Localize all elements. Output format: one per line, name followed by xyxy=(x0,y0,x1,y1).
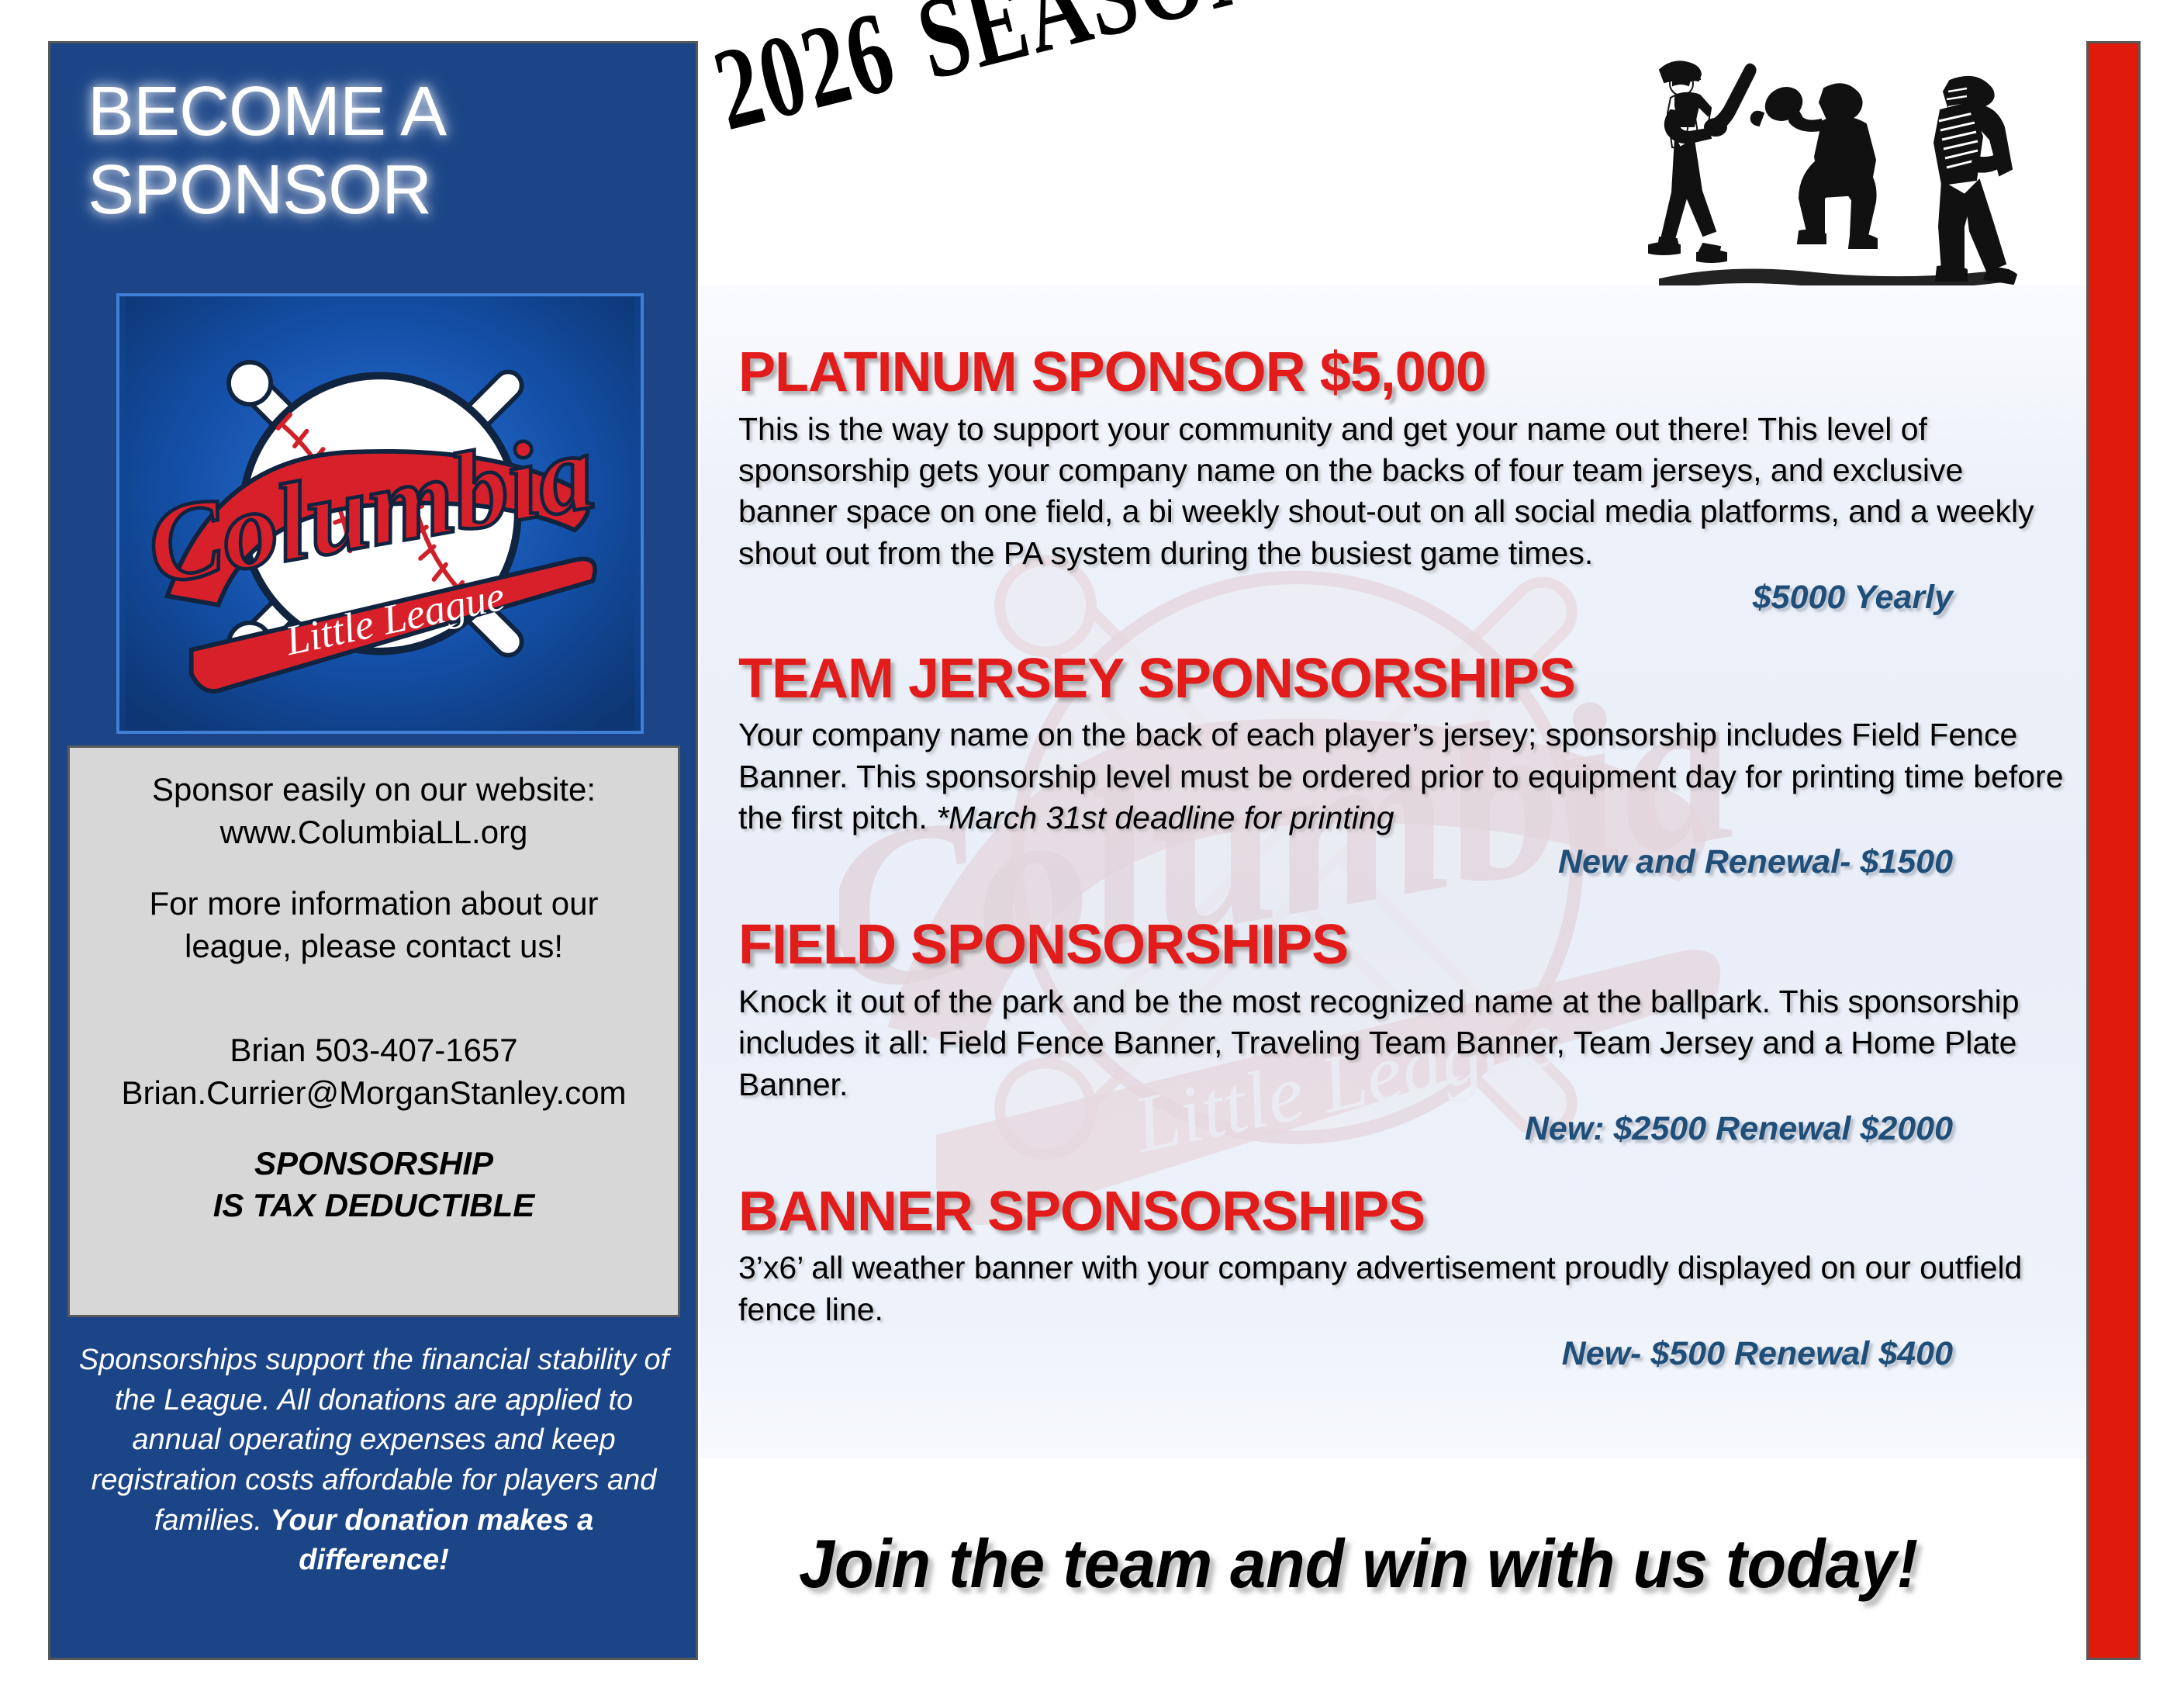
sponsorship-section-field: FIELD SPONSORSHIPS Knock it out of the p… xyxy=(738,914,2065,1148)
sponsorship-section-banner: BANNER SPONSORSHIPS 3’x6’ all weather ba… xyxy=(738,1181,2065,1373)
sponsorship-section-team-jersey: TEAM JERSEY SPONSORSHIPS Your company na… xyxy=(738,648,2065,882)
website-url[interactable]: www.ColumbiaLL.org xyxy=(70,811,678,853)
section-body-platinum: This is the way to support your communit… xyxy=(738,409,2065,574)
columbia-little-league-logo: Columbia Little League xyxy=(116,293,644,734)
section-price-banner: New- $500 Renewal $400 xyxy=(738,1335,2065,1373)
section-body-team-jersey: Your company name on the back of each pl… xyxy=(738,714,2065,839)
left-sidebar-panel: BECOME A SPONSOR xyxy=(48,41,698,1660)
page-title-line-1: BECOME A xyxy=(88,73,696,151)
season-word: SEASON xyxy=(906,0,1280,105)
section-price-platinum: $5000 Yearly xyxy=(738,579,2065,617)
section-price-field: New: $2500 Renewal $2000 xyxy=(738,1110,2065,1148)
section-body-team-jersey-deadline: *March 31st deadline for printing xyxy=(936,800,1394,835)
tax-deductible-line-2: IS TAX DEDUCTIBLE xyxy=(70,1185,678,1227)
right-red-accent-bar xyxy=(2086,41,2141,1660)
section-body-field: Knock it out of the park and be the most… xyxy=(738,981,2065,1105)
contact-card: Sponsor easily on our website: www.Colum… xyxy=(67,745,680,1317)
season-title: 2026SEASON xyxy=(702,0,1280,157)
season-year: 2026 xyxy=(703,0,907,155)
tax-deductible-line-1: SPONSORSHIP xyxy=(70,1143,678,1185)
sponsorship-sections: PLATINUM SPONSOR $5,000 This is the way … xyxy=(738,341,2065,1378)
contact-name-phone[interactable]: Brian 503-407-1657 xyxy=(70,1029,678,1071)
section-heading-team-jersey: TEAM JERSEY SPONSORSHIPS xyxy=(738,648,2065,711)
section-heading-platinum: PLATINUM SPONSOR $5,000 xyxy=(738,341,2065,404)
page-title: BECOME A SPONSOR xyxy=(50,43,696,230)
section-price-team-jersey: New and Renewal- $1500 xyxy=(738,843,2065,881)
section-body-banner: 3’x6’ all weather banner with your compa… xyxy=(738,1247,2065,1330)
footer-note-bold: Your donation makes a difference! xyxy=(271,1504,594,1577)
sidebar-footer-note: Sponsorships support the financial stabi… xyxy=(67,1340,680,1581)
section-heading-banner: BANNER SPONSORSHIPS xyxy=(738,1181,2065,1244)
page-title-line-2: SPONSOR xyxy=(88,151,696,230)
sponsorship-section-platinum: PLATINUM SPONSOR $5,000 This is the way … xyxy=(738,341,2065,617)
call-to-action-tagline: Join the team and win with us today! xyxy=(799,1524,1918,1603)
contact-info-line-1: For more information about our xyxy=(70,882,678,925)
website-intro: Sponsor easily on our website: xyxy=(70,768,678,811)
contact-email[interactable]: Brian.Currier@MorganStanley.com xyxy=(70,1071,678,1114)
section-heading-field: FIELD SPONSORSHIPS xyxy=(738,914,2065,977)
contact-info-line-2: league, please contact us! xyxy=(70,925,678,967)
